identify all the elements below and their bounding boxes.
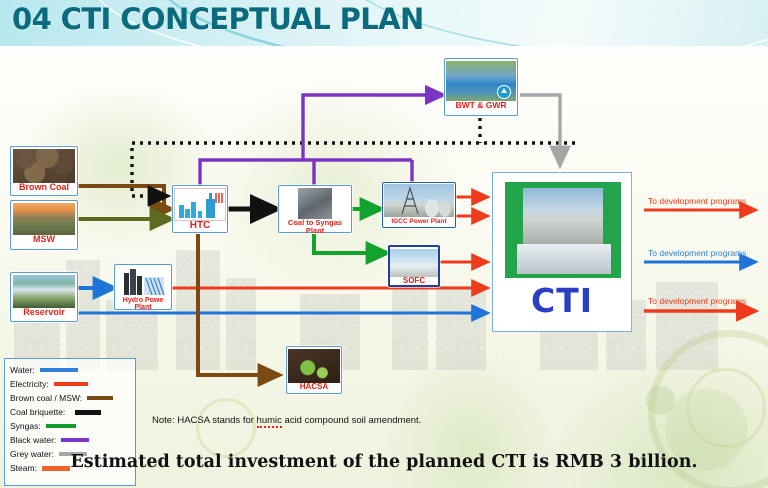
node-coal-to-syngas-plant[interactable]: Coal to Syngas Plant — [278, 185, 352, 233]
investment-statement: Estimated total investment of the planne… — [0, 452, 768, 472]
output-label-water: To development programs — [648, 248, 746, 258]
legend-item: Black water: — [10, 433, 130, 447]
link-htc-hacsa — [198, 234, 280, 375]
node-hydro-power-plant[interactable]: Hydro Powe Plant — [114, 264, 172, 310]
legend-swatch-electricity — [54, 382, 88, 386]
node-bwt-gwr[interactable]: BWT & GWR — [444, 58, 518, 116]
msw-thumbnail — [13, 203, 75, 235]
slide-canvas: 04 CTI CONCEPTUAL PLAN — [0, 0, 768, 488]
brown-coal-thumbnail — [13, 149, 75, 183]
note-suffix: acid compound soil amendment. — [282, 415, 421, 426]
legend-swatch-black-water — [61, 438, 89, 442]
bwt-gwr-thumbnail — [446, 61, 516, 101]
cti-green-panel — [505, 182, 621, 278]
node-label-msw: MSW — [11, 235, 77, 244]
htc-thumbnail — [174, 188, 226, 221]
cti-facility-photo — [517, 244, 611, 274]
node-label-brown-coal: Brown Coal — [11, 183, 77, 192]
node-msw[interactable]: MSW — [10, 200, 78, 250]
legend-label-coal-briquette: Coal briquette: — [10, 407, 65, 417]
legend-swatch-syngas — [46, 424, 76, 428]
syngas-plant-thumbnail — [298, 188, 332, 219]
hacsa-thumbnail — [288, 349, 340, 383]
reservoir-thumbnail — [13, 275, 75, 308]
node-label-cti: CTI — [493, 281, 631, 320]
legend-label-black-water: Black water: — [10, 435, 56, 445]
node-hacsa[interactable]: HACSA — [286, 346, 342, 394]
legend-label-brown-coal-msw: Brown coal / MSW: — [10, 393, 82, 403]
legend-item: Brown coal / MSW: — [10, 391, 130, 405]
legend-item: Water: — [10, 363, 130, 377]
cti-plant-photo — [523, 188, 603, 244]
legend-label-syngas: Syngas: — [10, 421, 41, 431]
sofc-thumbnail — [390, 249, 438, 277]
pylon-icon — [384, 184, 454, 217]
node-label-reservoir: Reservoir — [11, 308, 77, 317]
link-greywater-bwt-cti — [520, 95, 560, 166]
link-blackwater-riser — [303, 95, 444, 160]
legend-label-electricity: Electricity: — [10, 379, 49, 389]
node-igcc-power-plant[interactable]: IGCC Power Plant — [382, 182, 456, 228]
node-reservoir[interactable]: Reservoir — [10, 272, 78, 322]
node-label-htc: HTC — [173, 221, 227, 232]
node-sofc[interactable]: SOFC — [388, 245, 440, 287]
legend-item: Syngas: — [10, 419, 130, 433]
note-text: Note: HACSA stands for humic acid compou… — [152, 415, 421, 426]
node-label-igcc-power-plant: IGCC Power Plant — [383, 219, 455, 226]
node-label-hacsa: HACSA — [287, 383, 341, 391]
legend-label-water: Water: — [10, 365, 35, 375]
output-label-steam: To development programs — [648, 296, 746, 306]
node-label-bwt-gwr: BWT & GWR — [445, 101, 517, 110]
legend-item: Electricity: — [10, 377, 130, 391]
legend-swatch-water — [40, 368, 78, 372]
output-label-electricity: To development programs — [648, 196, 746, 206]
note-prefix: Note: HACSA stands for — [152, 415, 257, 426]
legend-item: Coal briquette: — [10, 405, 130, 419]
hydro-icon — [116, 267, 170, 297]
legend-swatch-coal-briquette — [75, 410, 101, 415]
recycle-badge-icon — [446, 61, 516, 101]
node-label-hydro-power-plant: Hydro Powe Plant — [115, 297, 171, 312]
note-flagged-word: humic — [257, 415, 282, 428]
link-syngas-sofc — [314, 234, 388, 253]
hydro-plant-thumbnail — [116, 267, 170, 297]
legend-swatch-brown-coal-msw — [87, 396, 113, 400]
igcc-thumbnail — [384, 184, 454, 217]
node-label-sofc: SOFC — [390, 277, 438, 285]
node-label-coal-to-syngas-plant: Coal to Syngas Plant — [279, 219, 351, 235]
node-brown-coal[interactable]: Brown Coal — [10, 146, 78, 196]
htc-chart-icon — [175, 189, 225, 220]
node-cti[interactable]: CTI — [492, 172, 632, 332]
node-htc[interactable]: HTC — [172, 185, 228, 233]
